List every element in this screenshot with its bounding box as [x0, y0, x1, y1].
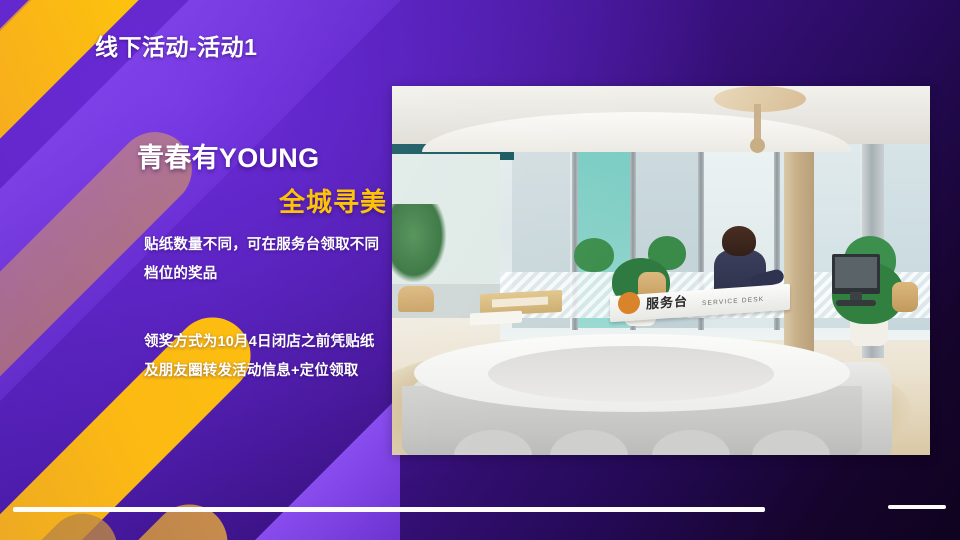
body-paragraph-2: 领奖方式为10月4日闭店之前凭贴纸及朋友圈转发活动信息+定位领取 [144, 328, 384, 386]
footer-rule-short [888, 505, 946, 509]
page-title: 线下活动-活动1 [95, 28, 257, 62]
photo-mall-service-desk: 服务台 SERVICE DESK [392, 86, 930, 455]
headline-secondary: 全城寻美 [137, 182, 387, 219]
headline-block: 青春有YOUNG 全城寻美 [137, 136, 387, 219]
body-paragraph-1: 贴纸数量不同，可在服务台领取不同档位的奖品 [144, 231, 384, 289]
footer-rule-long [13, 507, 765, 512]
slide-canvas: 线下活动-活动1 青春有YOUNG 全城寻美 贴纸数量不同，可在服务台领取不同档… [0, 0, 960, 540]
headline-primary: 青春有YOUNG [137, 136, 387, 175]
photo-glare-overlay [392, 86, 930, 455]
